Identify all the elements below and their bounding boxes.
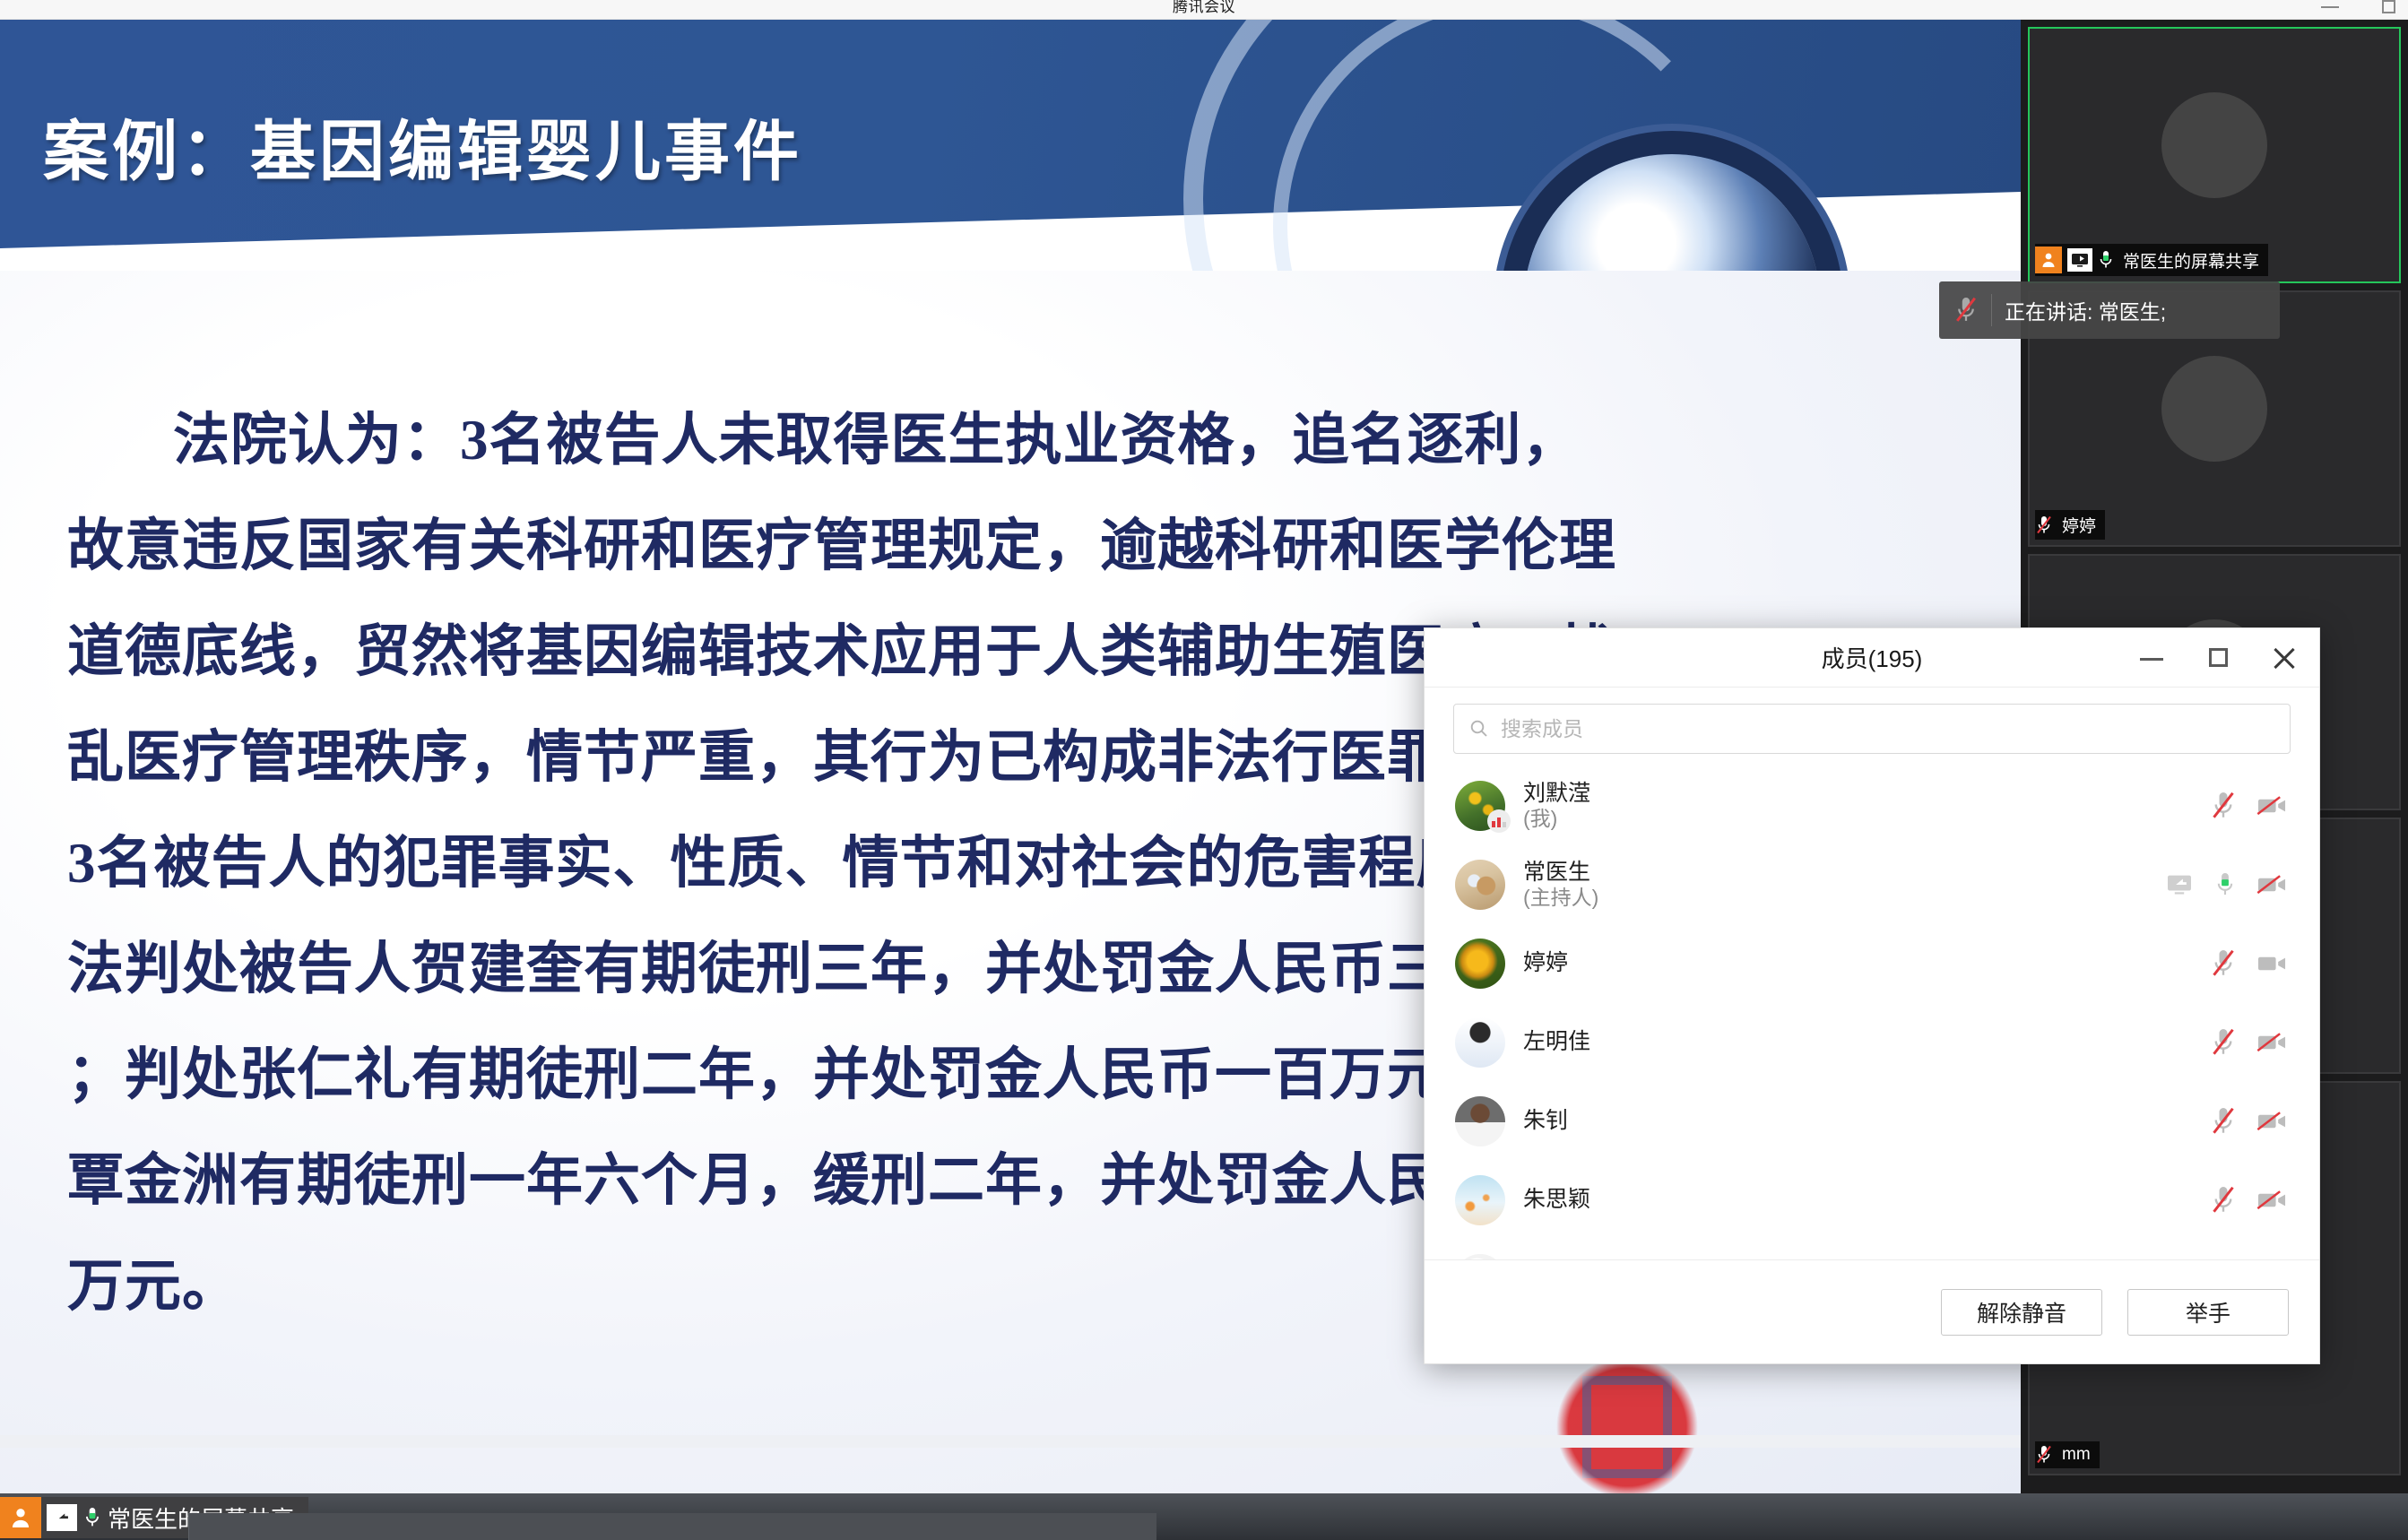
avatar [1455,781,1505,831]
video-tile-name: 婷婷 [2058,513,2096,537]
participant-name: 婷婷 [1523,950,2210,977]
avatar [2161,356,2267,462]
mic-muted-icon [2035,515,2053,536]
participants-dialog: 成员(195) 刘默滢 (我) [1424,627,2320,1364]
shared-screen-bottom-edge [0,1435,2021,1448]
camera-on-icon[interactable] [2256,952,2287,975]
participant-meta: 朱思颖 [1523,1187,2210,1214]
slide-title: 案例：基因编辑婴儿事件 [43,117,1208,188]
screen-share-icon [47,1504,77,1531]
avatar [1455,1017,1505,1068]
participant-row[interactable]: 刘默滢 (我) [1425,766,2319,845]
participant-meta: 婷婷 [1523,950,2210,977]
mic-muted-icon[interactable] [2210,1105,2237,1138]
participant-name: 刘默滢 [1523,781,2210,808]
app-title: 腾讯会议 [1173,0,1235,16]
participant-status-icons [2210,1026,2287,1059]
search-icon [1468,718,1490,740]
mic-on-icon [82,1504,102,1531]
participant-name: 左明佳 [1523,1029,2210,1056]
mic-muted-icon[interactable] [2210,1184,2237,1216]
participant-meta: 朱钊 [1523,1108,2210,1135]
participant-status-icons [2210,947,2287,980]
speaking-toast: 正在讲话: 常医生; [1939,281,2280,339]
mic-on-icon [2098,249,2114,271]
camera-off-icon[interactable] [2256,1110,2287,1133]
participant-status-icons [2210,1184,2287,1216]
participants-list[interactable]: 刘默滢 (我) 常医生 (主持人) [1425,763,2319,1259]
slide-line: 故意违反国家有关科研和医疗管理规定，逾越科研和医学伦理 [67,493,1968,599]
mic-muted-icon[interactable] [2210,790,2237,822]
mic-muted-icon [1953,295,1979,325]
screen-share-icon[interactable] [2165,873,2194,896]
participant-row[interactable]: 婷婷 [1425,924,2319,1003]
raise-hand-button[interactable]: 举手 [2127,1289,2289,1336]
participant-row[interactable]: 朱钊 [1425,1082,2319,1161]
video-tile-label-bar: mm [2035,1441,2100,1468]
mic-muted-icon[interactable] [2210,947,2237,980]
screen-share-icon [2067,248,2092,272]
avatar [1455,860,1505,910]
avatar [1455,939,1505,989]
video-tile-name: mm [2058,1445,2091,1465]
taskbar: 常医生的屏幕共享 [0,1493,2408,1540]
mic-on-icon[interactable] [2213,869,2237,901]
camera-off-icon[interactable] [2256,794,2287,818]
mic-muted-icon [2035,1444,2053,1466]
minimize-icon[interactable] [2318,0,2342,14]
participant-meta: 左明佳 [1523,1029,2210,1056]
video-tile-0[interactable]: 常医生的屏幕共享 [2028,27,2401,283]
video-tile-label-bar: 常医生的屏幕共享 [2035,244,2268,276]
maximize-icon[interactable] [2378,0,2401,14]
speaking-toast-text: 正在讲话: 常医生; [2005,295,2166,325]
avatar [1455,1096,1505,1146]
toast-divider [1991,294,1992,326]
person-icon [0,1497,41,1538]
participants-dialog-window-controls [2136,628,2300,688]
search-input[interactable] [1501,717,2275,741]
video-tile-label-bar: 婷婷 [2035,510,2105,540]
camera-off-icon[interactable] [2256,873,2287,896]
mic-muted-icon[interactable] [2210,1026,2237,1059]
speaking-level-badge [1487,809,1511,833]
participant-meta: 刘默滢 (我) [1523,781,2210,832]
participant-name: 朱钊 [1523,1108,2210,1135]
participants-dialog-title: 成员(195) [1822,641,1923,674]
participant-meta: 常医生 (主持人) [1523,860,2165,911]
participant-role: (主持人) [1523,886,2165,910]
participant-row[interactable]: 常医生 (主持人) [1425,845,2319,924]
avatar [2161,92,2267,198]
unmute-button[interactable]: 解除静音 [1941,1289,2102,1336]
avatar [1455,1175,1505,1225]
camera-off-icon[interactable] [2256,1189,2287,1212]
participant-name: 常医生 [1523,860,2165,887]
participants-dialog-footer: 解除静音 举手 [1425,1259,2319,1363]
camera-off-icon[interactable] [2256,1031,2287,1054]
participant-role: (我) [1523,807,2210,831]
participant-name: 朱思颖 [1523,1187,2210,1214]
close-icon[interactable] [2269,643,2300,673]
participant-row[interactable]: 左明佳 [1425,1003,2319,1082]
participant-row[interactable]: 朱梦迪 [1425,1240,2319,1259]
app-titlebar: 腾讯会议 [0,0,2408,20]
participant-status-icons [2165,869,2287,901]
person-icon [2035,247,2062,273]
minimize-icon[interactable] [2136,643,2167,673]
participant-row[interactable]: 朱思颖 [1425,1161,2319,1240]
participants-search-wrapper [1425,688,2319,763]
participants-search-box[interactable] [1453,704,2291,754]
red-seal-stamp [1555,1360,1699,1494]
participants-dialog-titlebar: 成员(195) [1425,628,2319,688]
maximize-icon[interactable] [2203,643,2233,673]
taskbar-window-strip[interactable] [188,1513,1156,1540]
slide-line: 法院认为：3名被告人未取得医生执业资格，追名逐利， [67,387,1968,493]
participant-status-icons [2210,1105,2287,1138]
video-tile-name: 常医生的屏幕共享 [2119,248,2259,273]
participant-status-icons [2210,790,2287,822]
window-controls [2318,0,2401,16]
